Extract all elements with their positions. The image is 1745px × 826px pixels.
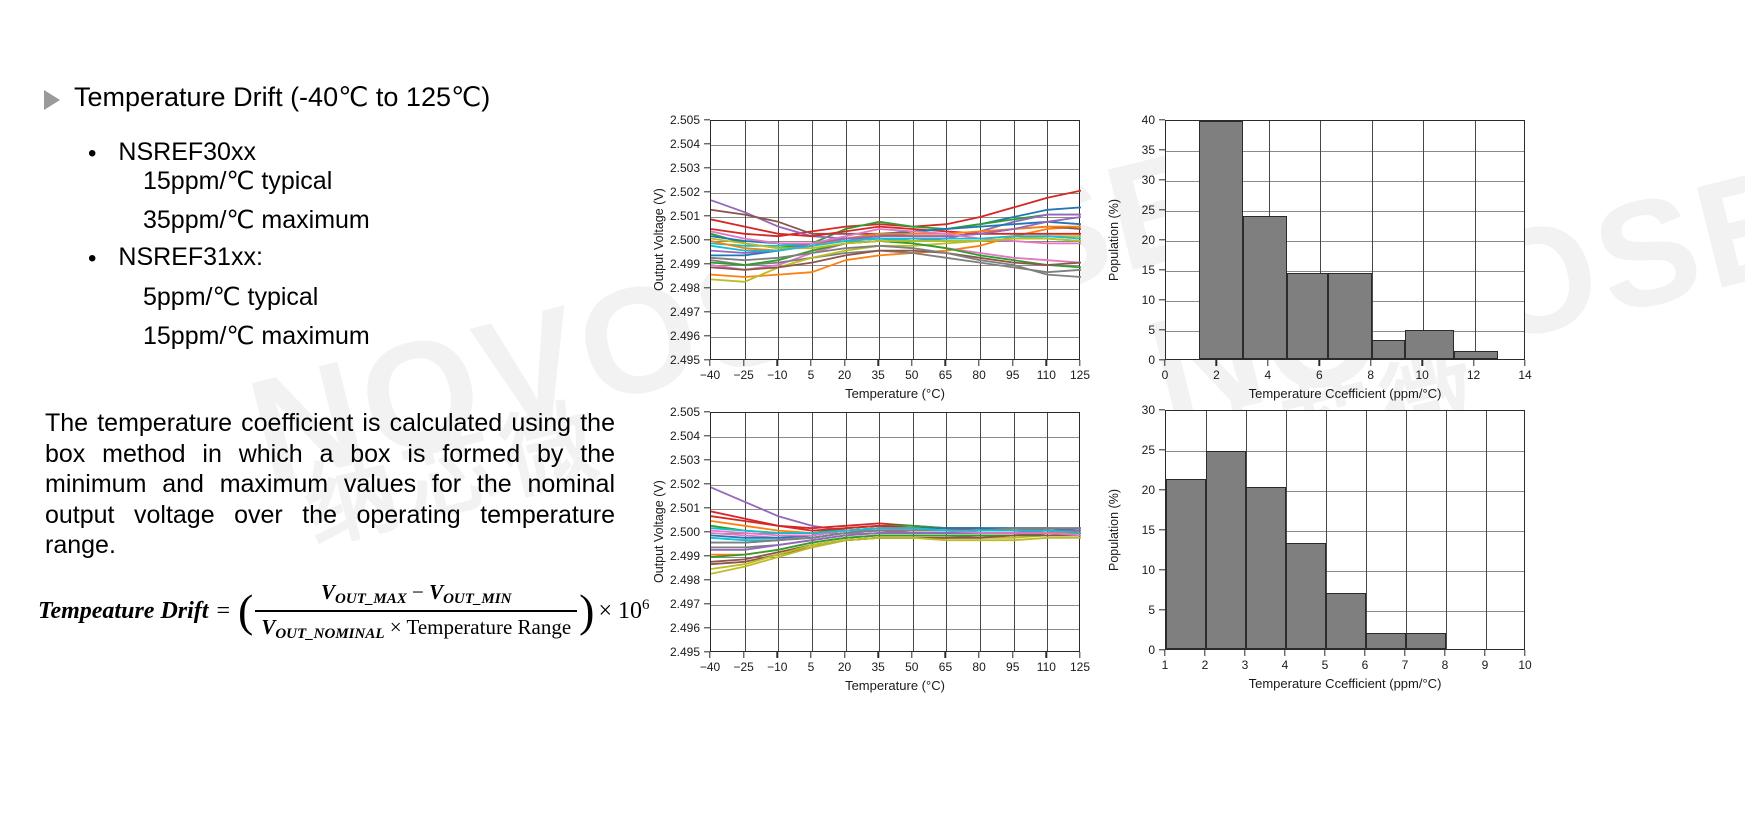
y-tick-mark [1159,119,1165,120]
bullet-subline: 35ppm/℃ maximum [143,205,370,235]
x-tick-label: −40 [700,368,720,382]
line-series [711,538,1081,569]
x-tick-label: 125 [1070,660,1090,674]
y-tick-label: 2.505 [670,113,700,127]
x-tick-label: 6 [1362,658,1369,672]
formula-fraction: VOUT_MAX − VOUT_MIN VOUT_NOMINAL × Tempe… [255,580,577,643]
y-axis-label: Output Voltage (V) [652,412,666,652]
x-tick-mark [810,652,811,658]
histogram-bar [1286,543,1326,649]
bullet-label: NSREF30xx [118,138,256,167]
y-tick-label: 2.502 [670,185,700,199]
y-tick-mark [704,459,710,460]
formula-numerator: VOUT_MAX − VOUT_MIN [315,580,517,610]
y-tick-label: 30 [1142,403,1155,417]
x-tick-mark [844,652,845,658]
x-tick-mark [709,360,710,366]
y-tick-mark [704,507,710,508]
y-tick-mark [1159,529,1165,530]
x-tick-label: 125 [1070,368,1090,382]
y-axis-label: Output Voltage (V) [652,120,666,360]
bullet-subline: 15ppm/℃ typical [143,166,332,196]
y-tick-label: 20 [1142,483,1155,497]
gridline [1486,411,1487,649]
x-tick-label: 2 [1202,658,1209,672]
x-tick-mark [1012,652,1013,658]
y-tick-mark [1159,489,1165,490]
y-tick-label: 2.499 [670,257,700,271]
formula-times: × [390,615,402,639]
y-tick-label: 10 [1142,293,1155,307]
formula-den-v-nominal-sub: OUT_NOMINAL [275,626,384,642]
gridline [1366,411,1367,649]
formula-block: Tempeature Drift = ( VOUT_MAX − VOUT_MIN… [38,580,650,643]
x-tick-mark [1444,650,1445,656]
x-tick-mark [1484,650,1485,656]
x-tick-label: 95 [1006,368,1019,382]
x-tick-mark [1404,650,1405,656]
y-axis-label: Population (%) [1107,120,1121,360]
x-tick-label: 80 [972,368,985,382]
histogram-bar [1199,121,1243,359]
y-tick-mark [1159,239,1165,240]
y-tick-mark [1159,569,1165,570]
x-tick-label: 50 [905,368,918,382]
y-tick-label: 0 [1148,353,1155,367]
x-tick-label: 8 [1367,368,1374,382]
x-tick-mark [1267,360,1268,366]
formula-open-paren: ( [238,588,253,634]
x-tick-mark [1164,650,1165,656]
y-tick-mark [704,579,710,580]
x-tick-mark [1421,360,1422,366]
y-tick-label: 15 [1142,263,1155,277]
y-tick-label: 2.504 [670,429,700,443]
y-tick-label: 20 [1142,233,1155,247]
x-tick-label: 5 [1322,658,1329,672]
y-tick-label: 2.495 [670,353,700,367]
x-tick-label: 12 [1467,368,1480,382]
axes-frame [1165,410,1525,650]
x-tick-label: 7 [1402,658,1409,672]
x-tick-mark [1524,650,1525,656]
body-paragraph: The temperature coefficient is calculate… [45,408,615,561]
y-tick-label: 2.504 [670,137,700,151]
x-tick-mark [945,360,946,366]
formula-num-v-min-sub: OUT_MIN [443,591,511,607]
x-tick-label: −10 [767,660,787,674]
y-tick-mark [704,191,710,192]
y-tick-mark [1159,209,1165,210]
x-tick-mark [1244,650,1245,656]
x-tick-mark [810,360,811,366]
y-tick-label: 2.496 [670,621,700,635]
y-tick-mark [704,143,710,144]
y-tick-mark [704,311,710,312]
axes-frame [710,412,1080,652]
x-tick-label: 65 [939,660,952,674]
y-tick-label: 2.499 [670,549,700,563]
y-tick-mark [1159,449,1165,450]
x-tick-label: 35 [871,660,884,674]
y-tick-label: 2.495 [670,645,700,659]
histogram-bar [1287,273,1328,359]
y-tick-mark [704,263,710,264]
bullet-label: NSREF31xx: [118,243,262,272]
x-tick-mark [1370,360,1371,366]
y-tick-label: 2.505 [670,405,700,419]
y-tick-label: 5 [1148,323,1155,337]
y-tick-mark [1159,409,1165,410]
y-tick-label: 35 [1142,143,1155,157]
x-tick-mark [1216,360,1217,366]
line-series-group [711,413,1081,653]
x-tick-label: 20 [838,368,851,382]
y-tick-label: 2.503 [670,161,700,175]
x-tick-label: 50 [905,660,918,674]
x-tick-mark [1364,650,1365,656]
gridline [1406,411,1407,649]
x-tick-mark [1164,360,1165,366]
histogram-bar [1326,593,1366,649]
y-tick-label: 2.500 [670,525,700,539]
formula-num-v-max: V [321,580,335,604]
x-tick-label: 0 [1162,368,1169,382]
axes-frame [1165,120,1525,360]
formula-lhs: Tempeature Drift [38,598,208,625]
formula-num-v-max-sub: OUT_MAX [335,591,407,607]
y-tick-mark [1159,329,1165,330]
x-tick-mark [1079,652,1080,658]
formula-den-v-nominal: V [261,615,275,639]
y-tick-mark [704,531,710,532]
y-tick-label: 2.497 [670,305,700,319]
x-tick-mark [777,360,778,366]
gridline [1446,411,1447,649]
histogram-bar [1372,340,1405,359]
x-tick-label: 9 [1482,658,1489,672]
x-tick-mark [1046,652,1047,658]
formula-equals: = [216,598,230,625]
x-tick-label: 65 [939,368,952,382]
x-tick-label: 20 [838,660,851,674]
plot-area [1165,120,1525,360]
formula-multiplier: × 106 [599,597,650,625]
y-tick-mark [1159,149,1165,150]
y-tick-label: 5 [1148,603,1155,617]
y-tick-mark [704,287,710,288]
formula-close-paren: ) [579,588,594,634]
dot-bullet-icon: • [88,142,96,166]
gridline [1475,121,1476,359]
x-tick-mark [978,652,979,658]
x-tick-label: 95 [1006,660,1019,674]
x-tick-label: 2 [1213,368,1220,382]
formula-denominator: VOUT_NOMINAL × Temperature Range [255,610,577,643]
formula-multiplier-text: × 10 [599,598,643,624]
y-tick-mark [1159,299,1165,300]
y-tick-mark [704,119,710,120]
formula-den-temp-range: Temperature Range [406,615,571,639]
x-tick-label: 1 [1162,658,1169,672]
x-tick-label: 110 [1037,660,1056,674]
y-tick-mark [704,411,710,412]
y-tick-label: 2.498 [670,281,700,295]
x-axis-label: Temperature Ccefficient (ppm/°C) [1165,676,1525,691]
y-tick-label: 2.496 [670,329,700,343]
x-tick-label: 110 [1037,368,1056,382]
x-tick-label: 14 [1518,368,1531,382]
text-column: Temperature Drift (-40℃ to 125℃) • NSREF… [0,0,660,826]
y-tick-label: 15 [1142,523,1155,537]
bullet-item-nsref30xx: • NSREF30xx [88,138,256,167]
x-tick-mark [1473,360,1474,366]
histogram-bar [1454,351,1498,359]
y-tick-mark [704,627,710,628]
line-chart-bottom: Output Voltage (V) Temperature (°C) 2.49… [648,400,1098,692]
x-tick-label: 10 [1415,368,1428,382]
y-tick-label: 2.502 [670,477,700,491]
y-tick-label: 2.500 [670,233,700,247]
x-tick-label: −10 [767,368,787,382]
x-axis-label: Temperature (°C) [710,678,1080,693]
y-tick-mark [1159,269,1165,270]
x-tick-mark [911,652,912,658]
y-tick-label: 10 [1142,563,1155,577]
y-tick-label: 2.501 [670,501,700,515]
bullet-subline: 15ppm/℃ maximum [143,321,370,351]
x-tick-label: −25 [733,660,753,674]
histogram-bar [1406,633,1446,649]
x-tick-mark [978,360,979,366]
histogram-bar [1366,633,1406,649]
page-title: Temperature Drift (-40℃ to 125℃) [74,82,490,113]
dot-bullet-icon: • [88,247,96,271]
y-tick-label: 2.503 [670,453,700,467]
gridline [1372,121,1373,359]
plot-area [1165,410,1525,650]
triangle-bullet-icon [44,90,60,110]
y-axis-label: Population (%) [1107,410,1121,650]
x-tick-mark [1046,360,1047,366]
x-tick-label: 4 [1265,368,1272,382]
formula-minus: − [412,580,424,604]
histogram-bar [1246,487,1286,649]
y-tick-mark [704,483,710,484]
x-tick-mark [743,360,744,366]
line-chart-top: Output Voltage (V) Temperature (°C) 2.49… [648,108,1098,400]
y-tick-label: 40 [1142,113,1155,127]
histogram-bar [1328,273,1372,359]
y-tick-label: 2.497 [670,597,700,611]
histogram-bar [1206,451,1246,649]
x-tick-mark [1204,650,1205,656]
gridline [1423,121,1424,359]
plot-area [710,412,1080,652]
y-tick-mark [704,239,710,240]
axes-frame [710,120,1080,360]
x-tick-label: 4 [1282,658,1289,672]
x-tick-mark [911,360,912,366]
x-tick-mark [743,652,744,658]
x-tick-label: 5 [808,660,815,674]
x-tick-mark [877,360,878,366]
x-tick-label: 3 [1242,658,1249,672]
heading-bullet: Temperature Drift (-40℃ to 125℃) [44,82,490,113]
histogram-top: Population (%) Temperature Ccefficient (… [1110,108,1540,400]
y-tick-label: 2.501 [670,209,700,223]
x-tick-label: −25 [733,368,753,382]
histogram-bar [1166,479,1206,649]
y-tick-label: 2.498 [670,573,700,587]
plot-area [710,120,1080,360]
x-tick-label: 80 [972,660,985,674]
x-tick-label: 6 [1316,368,1323,382]
histogram-bar [1243,216,1287,359]
x-tick-label: 5 [808,368,815,382]
x-tick-mark [1524,360,1525,366]
y-tick-mark [704,215,710,216]
formula-num-v-min: V [429,580,443,604]
y-tick-label: 25 [1142,203,1155,217]
x-tick-mark [1324,650,1325,656]
x-tick-mark [777,652,778,658]
y-tick-mark [704,435,710,436]
y-tick-mark [1159,179,1165,180]
y-tick-mark [1159,609,1165,610]
x-tick-label: −40 [700,660,720,674]
line-series-group [711,121,1081,361]
x-tick-label: 8 [1442,658,1449,672]
x-tick-mark [945,652,946,658]
y-tick-label: 0 [1148,643,1155,657]
x-axis-label: Temperature (°C) [710,386,1080,401]
bullet-item-nsref31xx: • NSREF31xx: [88,243,263,272]
y-tick-mark [704,335,710,336]
bullet-subline: 5ppm/℃ typical [143,282,318,312]
x-tick-mark [1319,360,1320,366]
y-tick-mark [704,167,710,168]
histogram-bar [1405,330,1454,359]
x-tick-label: 35 [871,368,884,382]
x-tick-mark [1284,650,1285,656]
x-tick-mark [1079,360,1080,366]
y-tick-mark [704,603,710,604]
x-tick-mark [877,652,878,658]
x-tick-mark [1012,360,1013,366]
y-tick-label: 30 [1142,173,1155,187]
x-tick-label: 10 [1518,658,1531,672]
x-tick-mark [844,360,845,366]
x-tick-mark [709,652,710,658]
histogram-bottom: Population (%) Temperature Ccefficient (… [1110,398,1540,690]
y-tick-label: 25 [1142,443,1155,457]
y-tick-mark [704,555,710,556]
